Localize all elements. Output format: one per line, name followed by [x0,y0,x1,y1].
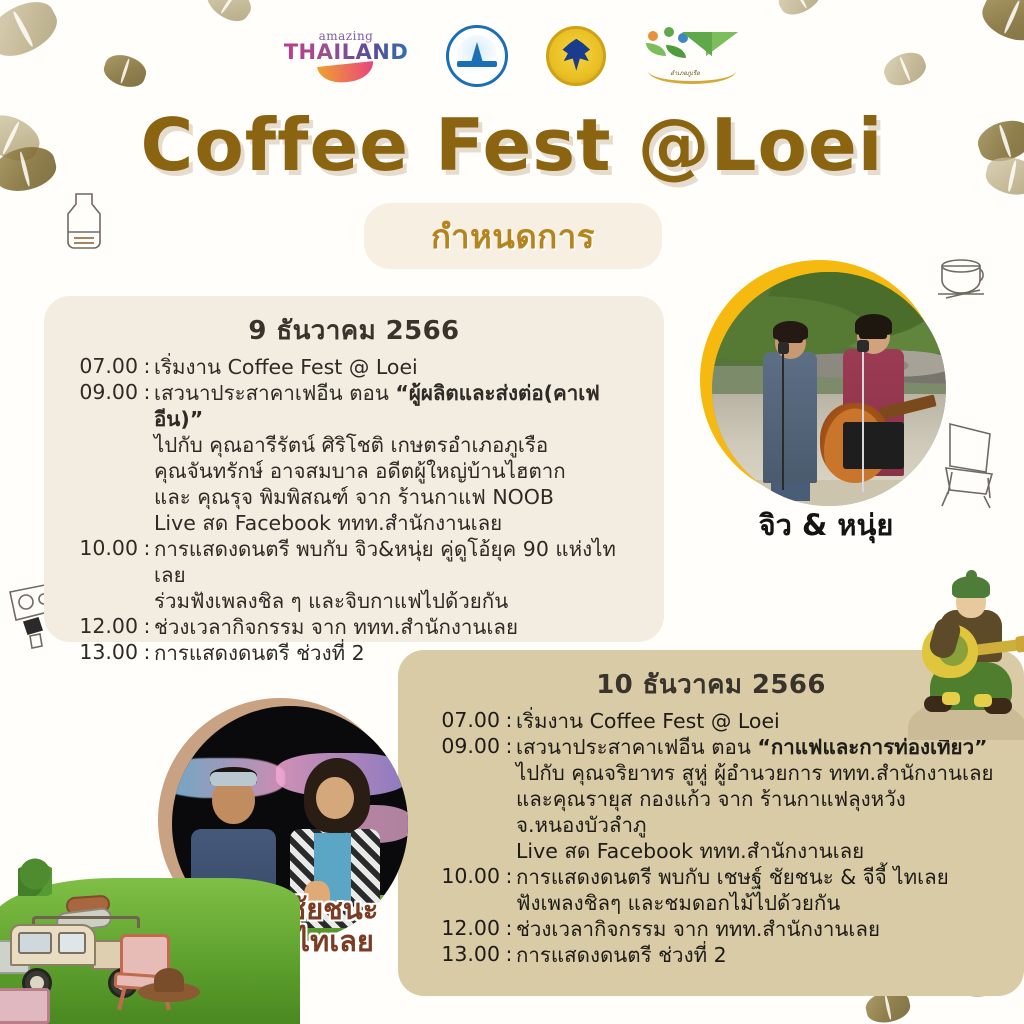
schedule-desc-text: เสวนาประสาคาเฟอีน ตอน [154,381,395,405]
community-logo-person-icon [648,31,658,41]
schedule-time: 12.00 [416,916,502,940]
garuda-emblem-icon [561,39,591,71]
photo-scene [712,272,946,506]
schedule-subline: และคุณรายุส กองแก้ว จาก ร้านกาแฟลุงหวัง [416,786,1006,812]
photo-mic-stand [862,347,864,492]
truck-windshield [18,932,52,954]
schedule-rows-day2: 07.00 : เริ่มงาน Coffee Fest @ Loei 09.0… [416,708,1006,968]
government-seal-logo [546,26,606,86]
schedule-time: 09.00 [62,380,140,404]
artist-photo-jiw-nuy: จิว & หนุ่ย [690,258,962,558]
chair-leg [117,986,127,1010]
schedule-desc-text: เสวนาประสาคาเฟอีน ตอน [516,735,757,759]
poster-title: Coffee Fest @Loei [0,103,1024,187]
truck-side-window [58,932,86,954]
community-logo-person-icon [664,27,674,37]
schedule-row: 09.00 : เสวนาประสาคาเฟอีน ตอน “ผู้ผลิตแล… [62,380,646,432]
schedule-desc: การแสดงดนตรี พบกับ จิว&หนุ่ย คู่ดูโอ้ยุค… [154,536,646,588]
schedule-colon: : [140,614,154,638]
schedule-rows-day1: 07.00 : เริ่มงาน Coffee Fest @ Loei 09.0… [62,354,646,666]
schedule-row: 07.00 : เริ่มงาน Coffee Fest @ Loei [62,354,646,380]
schedule-colon: : [502,864,516,888]
amazing-thailand-logo: amazing THAILAND [284,30,409,82]
guitarist-sock [974,694,992,707]
schedule-subline: Live สด Facebook ททท.สำนักงานเลย [416,838,1006,864]
schedule-time: 10.00 [416,864,502,888]
coffee-fest-poster: amazing THAILAND อำเภอภูเรือ Coffee Fest… [0,0,1024,1024]
schedule-desc: เสวนาประสาคาเฟอีน ตอน “ผู้ผลิตและส่งต่อ(… [154,380,646,432]
schedule-time: 07.00 [416,708,502,732]
schedule-desc: การแสดงดนตรี ช่วงที่ 2 [516,942,1006,968]
guitarist-sock [942,692,960,705]
schedule-row: 10.00 : การแสดงดนตรี พบกับ จิว&หนุ่ย คู่… [62,536,646,588]
schedule-subline: ไปกับ คุณอารีรัตน์ ศิริโชติ เกษตรอำเภอภู… [62,432,646,458]
camping-illustration [0,838,300,1024]
schedule-label-text: กำหนดการ [431,210,595,263]
guitar-headstock [1015,635,1024,652]
photo-person-b-sunglasses [859,331,887,339]
schedule-colon: : [140,536,154,560]
guitarist-beanie-knob [966,570,977,581]
schedule-row: 13.00 : การแสดงดนตรี ช่วงที่ 2 [416,942,1006,968]
hat-crown [154,968,184,992]
schedule-time: 12.00 [62,614,140,638]
sponsor-logo-row: amazing THAILAND อำเภอภูเรือ [0,18,1024,94]
photo-riverbank [712,480,946,506]
schedule-desc: ช่วงเวลากิจกรรม จาก ททท.สำนักงานเลย [516,916,1006,942]
camp-tree [18,856,52,896]
schedule-panel-day1: 9 ธันวาคม 2566 07.00 : เริ่มงาน Coffee F… [44,296,664,642]
schedule-subline: จ.หนองบัวลำภู [416,812,1006,838]
schedule-subline: ร่วมฟังเพลงชิล ๆ และจิบกาแฟไปด้วยกัน [62,588,646,614]
photo-microphone [778,342,790,354]
camp-cooler-box [0,988,50,1024]
photo-music-stand [843,422,904,469]
amazing-thailand-logo-line2: THAILAND [284,42,409,63]
schedule-time: 10.00 [62,536,140,560]
photo-microphone [857,340,869,352]
photo-image-jiw-nuy [712,272,946,506]
photo-person-a-body [763,352,817,483]
schedule-date-day1: 9 ธันวาคม 2566 [62,310,646,351]
schedule-label-pill: กำหนดการ [364,203,662,269]
camp-hat [138,966,200,1002]
schedule-colon: : [502,734,516,758]
schedule-colon: : [502,708,516,732]
amazing-thailand-swoosh-icon [317,61,375,85]
schedule-desc: เริ่มงาน Coffee Fest @ Loei [154,354,646,380]
tat-logo-base-icon [457,61,497,67]
community-logo-leaf-icon [646,43,666,56]
photo-mic-stand [782,349,784,489]
schedule-desc: ช่วงเวลากิจกรรม จาก ททท.สำนักงานเลย [154,614,646,640]
schedule-subline: ไปกับ คุณจริยาทร สูหู่ ผู้อำนวยการ ททท.ส… [416,760,1006,786]
community-tourism-logo: อำเภอภูเรือ [644,27,740,85]
schedule-row: 12.00 : ช่วงเวลากิจกรรม จาก ททท.สำนักงาน… [416,916,1006,942]
schedule-colon: : [140,380,154,404]
schedule-time: 09.00 [416,734,502,758]
tourism-authority-of-thailand-logo [446,25,508,87]
schedule-time: 13.00 [62,640,140,664]
schedule-subline: และ คุณรุจ พิมพิสณฑ์ จาก ร้านกาแฟ NOOB [62,484,646,510]
schedule-subline: คุณจันทรักษ์ อาจสมบาล อดีตผู้ใหญ่บ้านไฮต… [62,458,646,484]
community-logo-text: อำเภอภูเรือ [670,68,699,78]
schedule-subline: Live สด Facebook ททท.สำนักงานเลย [62,510,646,536]
schedule-desc: การแสดงดนตรี พบกับ เชษฐ์ ชัยชนะ & จีจี้ … [516,864,1006,890]
schedule-colon: : [140,640,154,664]
photo-person-b-face [316,777,354,819]
photo-caption-jiw-nuy: จิว & หนุ่ย [690,509,962,541]
schedule-row: 12.00 : ช่วงเวลากิจกรรม จาก ททท.สำนักงาน… [62,614,646,640]
schedule-time: 13.00 [416,942,502,966]
schedule-time: 07.00 [62,354,140,378]
photo-person-a-headband [210,772,257,786]
community-logo-mountain-icon [682,32,738,56]
schedule-colon: : [140,354,154,378]
schedule-colon: : [502,916,516,940]
schedule-subline: ฟังเพลงชิลๆ และชมดอกไม้ไปด้วยกัน [416,890,1006,916]
guitarist-illustration [912,562,1024,740]
milk-bottle-sketch-icon [58,186,110,252]
schedule-row: 10.00 : การแสดงดนตรี พบกับ เชษฐ์ ชัยชนะ … [416,864,1006,890]
schedule-colon: : [502,942,516,966]
